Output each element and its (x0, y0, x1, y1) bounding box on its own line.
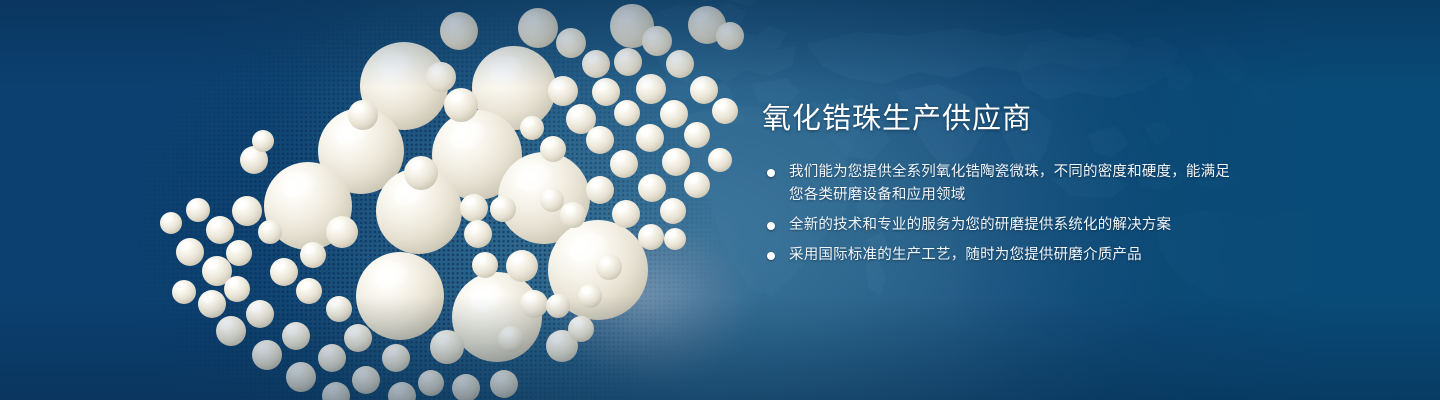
list-item-label: 我们能为您提供全系列氧化锆陶瓷微珠，不同的密度和硬度，能满足您各类研磨设备和应用… (789, 161, 1232, 207)
bullet-dot-icon (767, 169, 775, 177)
page-title: 氧化锆珠生产供应商 (762, 100, 1232, 138)
list-item: 全新的技术和专业的服务为您的研磨提供系统化的解决方案 (762, 214, 1232, 237)
list-item-label: 采用国际标准的生产工艺，随时为您提供研磨介质产品 (789, 244, 1232, 267)
list-item: 采用国际标准的生产工艺，随时为您提供研磨介质产品 (762, 244, 1232, 267)
list-item: 我们能为您提供全系列氧化锆陶瓷微珠，不同的密度和硬度，能满足您各类研磨设备和应用… (762, 161, 1232, 207)
feature-list: 我们能为您提供全系列氧化锆陶瓷微珠，不同的密度和硬度，能满足您各类研磨设备和应用… (762, 161, 1232, 267)
product-hero-banner: 氧化锆珠生产供应商 我们能为您提供全系列氧化锆陶瓷微珠，不同的密度和硬度，能满足… (0, 0, 1440, 400)
bullet-dot-icon (767, 222, 775, 230)
list-item-label: 全新的技术和专业的服务为您的研磨提供系统化的解决方案 (789, 214, 1232, 237)
banner-copy: 氧化锆珠生产供应商 我们能为您提供全系列氧化锆陶瓷微珠，不同的密度和硬度，能满足… (762, 100, 1232, 267)
bullet-dot-icon (767, 252, 775, 260)
